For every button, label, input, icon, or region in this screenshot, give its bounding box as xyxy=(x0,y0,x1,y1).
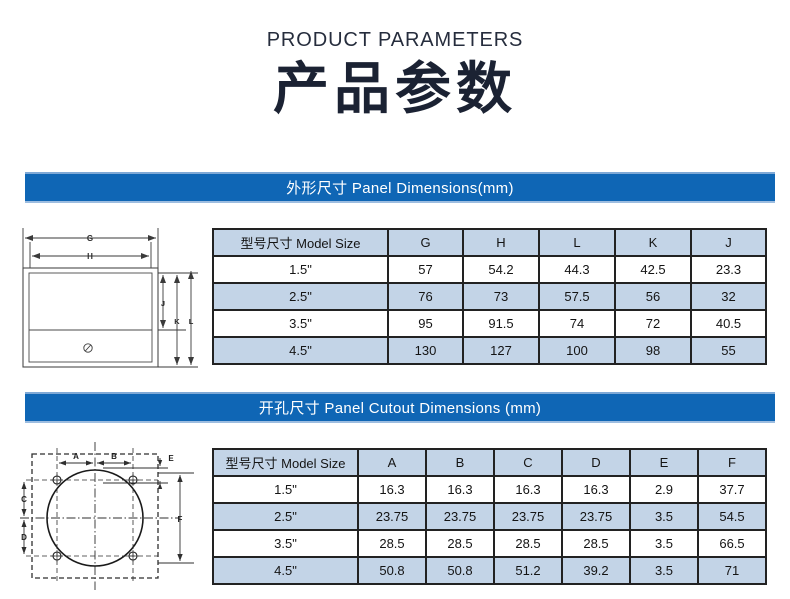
cell-value: 42.5 xyxy=(615,256,691,283)
cell-value: 16.3 xyxy=(494,476,562,503)
cell-value: 28.5 xyxy=(562,530,630,557)
cell-value: 28.5 xyxy=(358,530,426,557)
cell-value: 16.3 xyxy=(562,476,630,503)
cell-value: 50.8 xyxy=(358,557,426,584)
cell-value: 23.75 xyxy=(562,503,630,530)
column-header-e: E xyxy=(630,449,698,476)
cell-value: 57.5 xyxy=(539,283,615,310)
cell-value: 98 xyxy=(615,337,691,364)
cell-value: 23.75 xyxy=(358,503,426,530)
cell-value: 130 xyxy=(388,337,463,364)
cell-value: 72 xyxy=(615,310,691,337)
svg-text:G: G xyxy=(87,234,93,243)
cell-value: 28.5 xyxy=(426,530,494,557)
table-row: 3.5" 95 91.5 74 72 40.5 xyxy=(213,310,766,337)
section-header-panel-dimensions-label: 外形尺寸 Panel Dimensions(mm) xyxy=(286,177,514,198)
table-row: 2.5" 23.75 23.75 23.75 23.75 3.5 54.5 xyxy=(213,503,766,530)
cell-value: 55 xyxy=(691,337,766,364)
column-header-model-size: 型号尺寸 Model Size xyxy=(213,449,358,476)
cell-value: 16.3 xyxy=(426,476,494,503)
panel-cutout-drawing: A B C D E F xyxy=(8,432,204,599)
cell-value: 3.5 xyxy=(630,530,698,557)
cell-value: 56 xyxy=(615,283,691,310)
section-header-panel-dimensions: 外形尺寸 Panel Dimensions(mm) xyxy=(25,172,775,203)
table-row: 4.5" 50.8 50.8 51.2 39.2 3.5 71 xyxy=(213,557,766,584)
cell-value: 91.5 xyxy=(463,310,539,337)
column-header-d: D xyxy=(562,449,630,476)
cell-value: 44.3 xyxy=(539,256,615,283)
svg-text:F: F xyxy=(178,515,183,524)
cell-value: 37.7 xyxy=(698,476,766,503)
cell-value: 51.2 xyxy=(494,557,562,584)
cell-value: 39.2 xyxy=(562,557,630,584)
svg-text:E: E xyxy=(168,454,174,463)
panel-cutout-table: 型号尺寸 Model Size A B C D E F 1.5" 16.3 16… xyxy=(212,448,767,585)
cell-value: 54.2 xyxy=(463,256,539,283)
cell-model: 4.5" xyxy=(213,557,358,584)
cell-model: 1.5" xyxy=(213,476,358,503)
panel-outline-drawing: G H J K L xyxy=(8,224,204,381)
cell-value: 71 xyxy=(698,557,766,584)
cell-value: 23.75 xyxy=(494,503,562,530)
section-header-panel-cutout-label: 开孔尺寸 Panel Cutout Dimensions (mm) xyxy=(259,397,541,418)
column-header-b: B xyxy=(426,449,494,476)
column-header-c: C xyxy=(494,449,562,476)
cell-model: 1.5" xyxy=(213,256,388,283)
page-title-english: PRODUCT PARAMETERS xyxy=(0,30,790,50)
cell-value: 16.3 xyxy=(358,476,426,503)
cell-model: 3.5" xyxy=(213,530,358,557)
cell-value: 66.5 xyxy=(698,530,766,557)
cell-model: 4.5" xyxy=(213,337,388,364)
svg-text:H: H xyxy=(87,252,93,261)
cell-value: 73 xyxy=(463,283,539,310)
cell-value: 76 xyxy=(388,283,463,310)
table-row: 3.5" 28.5 28.5 28.5 28.5 3.5 66.5 xyxy=(213,530,766,557)
table-row: 1.5" 57 54.2 44.3 42.5 23.3 xyxy=(213,256,766,283)
table-row: 2.5" 76 73 57.5 56 32 xyxy=(213,283,766,310)
cell-value: 32 xyxy=(691,283,766,310)
svg-text:A: A xyxy=(73,452,79,461)
cell-value: 3.5 xyxy=(630,503,698,530)
cell-model: 2.5" xyxy=(213,503,358,530)
cell-value: 50.8 xyxy=(426,557,494,584)
column-header-g: G xyxy=(388,229,463,256)
cell-value: 57 xyxy=(388,256,463,283)
svg-text:C: C xyxy=(21,495,27,504)
cell-value: 100 xyxy=(539,337,615,364)
cell-value: 40.5 xyxy=(691,310,766,337)
page-title-chinese: 产品参数 xyxy=(0,58,790,122)
svg-text:L: L xyxy=(189,317,194,326)
column-header-j: J xyxy=(691,229,766,256)
table-row: 1.5" 16.3 16.3 16.3 16.3 2.9 37.7 xyxy=(213,476,766,503)
cell-value: 127 xyxy=(463,337,539,364)
column-header-k: K xyxy=(615,229,691,256)
column-header-l: L xyxy=(539,229,615,256)
cell-value: 28.5 xyxy=(494,530,562,557)
column-header-a: A xyxy=(358,449,426,476)
panel-dimensions-table: 型号尺寸 Model Size G H L K J 1.5" 57 54.2 4… xyxy=(212,228,767,365)
column-header-f: F xyxy=(698,449,766,476)
cell-value: 74 xyxy=(539,310,615,337)
cell-value: 23.3 xyxy=(691,256,766,283)
cell-value: 54.5 xyxy=(698,503,766,530)
table-row: 4.5" 130 127 100 98 55 xyxy=(213,337,766,364)
cell-model: 2.5" xyxy=(213,283,388,310)
cell-value: 2.9 xyxy=(630,476,698,503)
page-title: PRODUCT PARAMETERS 产品参数 xyxy=(0,0,790,122)
svg-text:J: J xyxy=(161,299,165,308)
section-header-panel-cutout: 开孔尺寸 Panel Cutout Dimensions (mm) xyxy=(25,392,775,423)
cell-model: 3.5" xyxy=(213,310,388,337)
svg-text:B: B xyxy=(111,452,117,461)
table-header-row: 型号尺寸 Model Size A B C D E F xyxy=(213,449,766,476)
svg-text:K: K xyxy=(174,317,180,326)
cell-value: 23.75 xyxy=(426,503,494,530)
svg-text:D: D xyxy=(21,533,27,542)
column-header-h: H xyxy=(463,229,539,256)
table-header-row: 型号尺寸 Model Size G H L K J xyxy=(213,229,766,256)
cell-value: 95 xyxy=(388,310,463,337)
cell-value: 3.5 xyxy=(630,557,698,584)
column-header-model-size: 型号尺寸 Model Size xyxy=(213,229,388,256)
